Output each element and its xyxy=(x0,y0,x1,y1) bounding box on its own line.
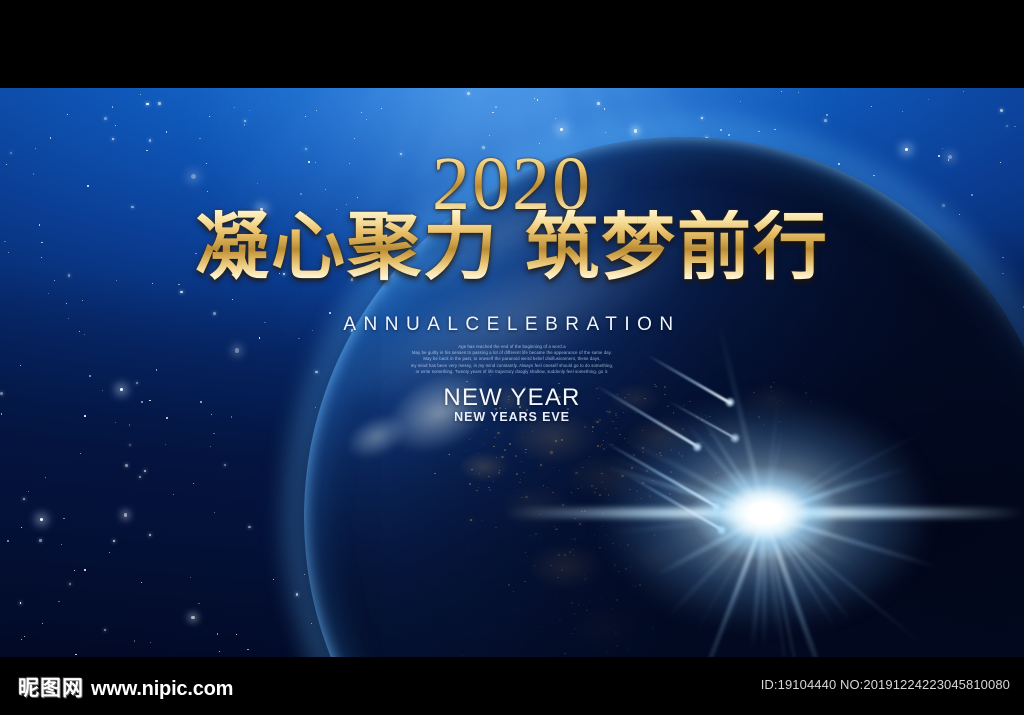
top-black-bar xyxy=(0,0,1024,88)
new-year-label: NEW YEAR xyxy=(0,384,1024,412)
description-paragraph: Age has reached the end of the beginning… xyxy=(0,344,1024,375)
annual-celebration-label: ANNUALCELEBRATION xyxy=(0,314,1024,336)
watermark-url: www.nipic.com xyxy=(91,678,233,701)
description-line: or write something. Twenty years of life… xyxy=(0,369,1024,375)
new-years-eve-label: NEW YEARS EVE xyxy=(0,410,1024,424)
headline-left: 凝心聚力 xyxy=(195,204,499,290)
image-id-number: ID:19104440 NO:20191224223045810080 xyxy=(761,677,1010,692)
poster-canvas: 2020 凝心聚力筑梦前行 ANNUALCELEBRATION Age has … xyxy=(0,0,1024,715)
watermark: 昵图网 www.nipic.com xyxy=(18,672,233,702)
headline-right: 筑梦前行 xyxy=(525,204,829,290)
watermark-logo-text: 昵图网 xyxy=(18,672,84,702)
headline-title: 凝心聚力筑梦前行 xyxy=(0,210,1024,284)
poster-artwork: 2020 凝心聚力筑梦前行 ANNUALCELEBRATION Age has … xyxy=(0,88,1024,657)
footer: 昵图网 www.nipic.com ID:19104440 NO:2019122… xyxy=(0,657,1024,715)
